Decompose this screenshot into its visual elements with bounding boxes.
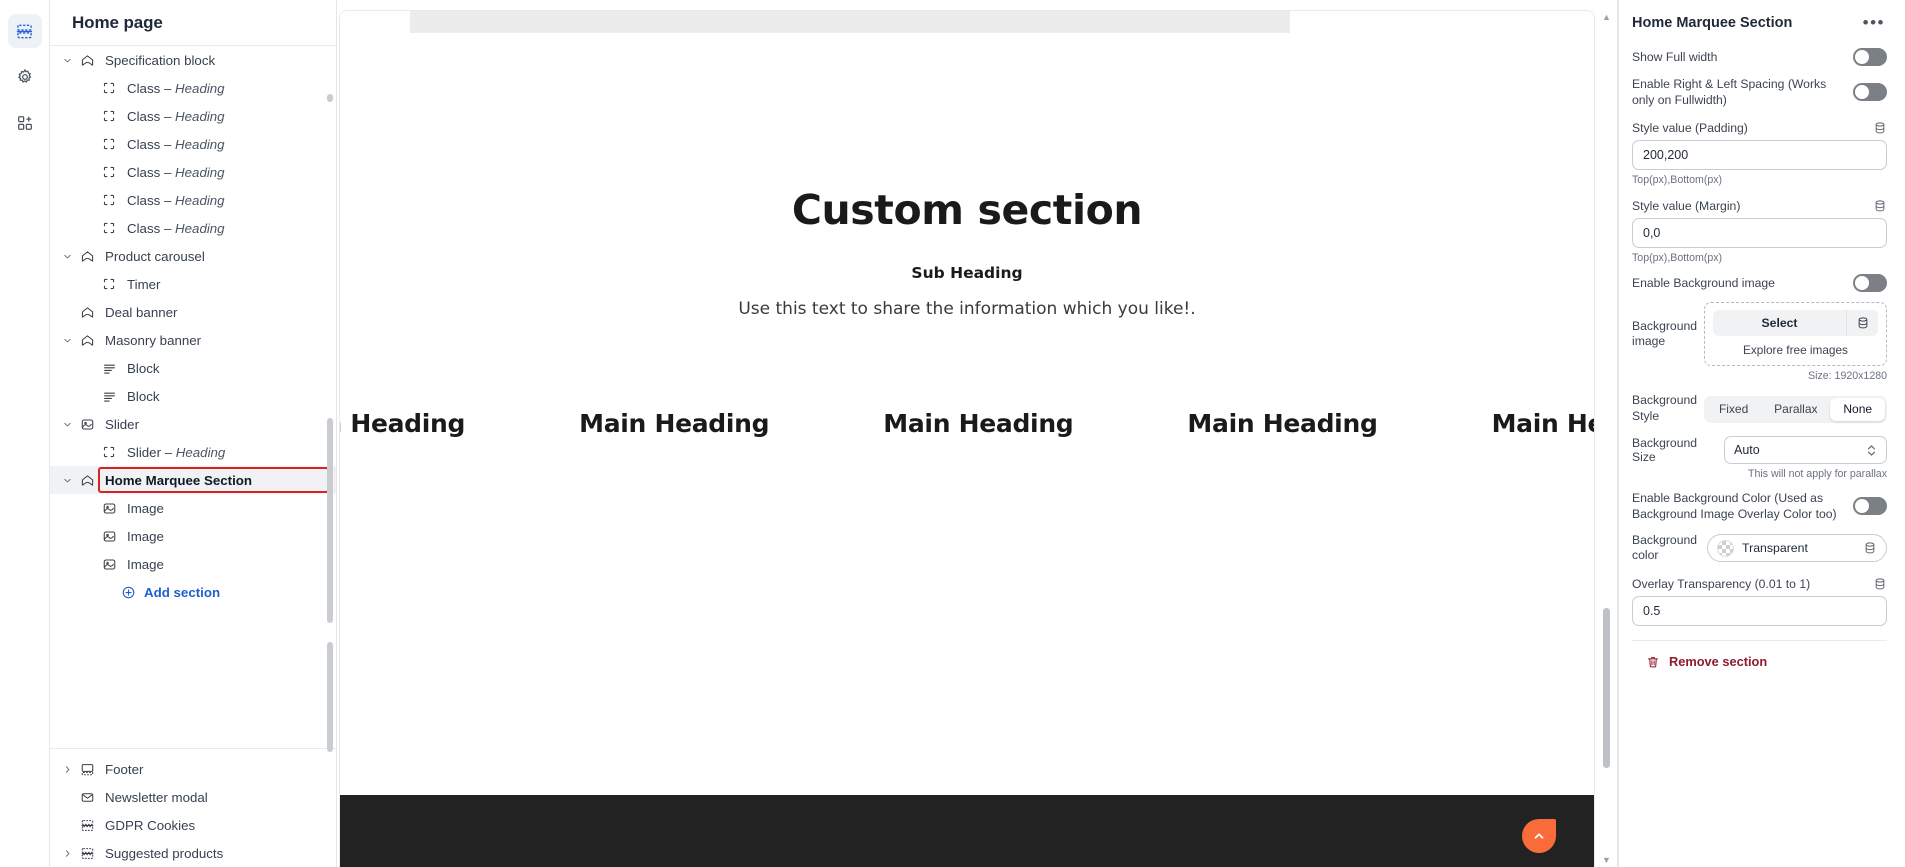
show-full-width-toggle[interactable] [1853, 48, 1887, 66]
inspector-header: Home Marquee Section ••• [1632, 0, 1887, 38]
sidebar-item[interactable]: Suggested products [50, 839, 336, 867]
block-icon [100, 79, 118, 97]
sidebar-item-label: Class – Heading [127, 221, 225, 236]
block-icon [100, 219, 118, 237]
inspector-panel: Home Marquee Section ••• Show Full width… [1618, 0, 1905, 867]
toggle-knob [1855, 276, 1869, 290]
enable-bg-color-toggle[interactable] [1853, 497, 1887, 515]
remove-section-label: Remove section [1669, 654, 1767, 669]
image-icon [100, 527, 118, 545]
chevron-down-icon[interactable] [58, 471, 76, 489]
database-icon[interactable] [1846, 310, 1878, 336]
image-icon [100, 555, 118, 573]
sidebar-item[interactable]: Class – Heading [50, 102, 336, 130]
background-style-segmented[interactable]: FixedParallaxNone [1704, 396, 1887, 423]
chevron-up-icon [1532, 829, 1546, 843]
plus-circle-icon [120, 584, 136, 600]
scrollbar-thumb[interactable] [1603, 608, 1610, 768]
sidebar-scrollbar-top[interactable] [327, 94, 333, 102]
background-size-row: Background Size Auto [1632, 436, 1887, 464]
sidebar-item[interactable]: Class – Heading [50, 74, 336, 102]
sidebar-item-label-italic: Heading [175, 193, 225, 208]
sidebar-item-label: Specification block [105, 53, 215, 68]
right-left-spacing-label: Enable Right & Left Spacing (Works only … [1632, 76, 1845, 108]
toggle-knob [1855, 50, 1869, 64]
sidebar-item[interactable]: Slider – Heading [50, 438, 336, 466]
sidebar-item-label-italic: Heading [175, 221, 225, 236]
remove-section-button[interactable]: Remove section [1632, 641, 1887, 669]
background-style-label: Background Style [1632, 393, 1694, 425]
style-margin-header: Style value (Margin) [1632, 199, 1887, 213]
scroll-to-top-button[interactable] [1522, 819, 1556, 853]
background-color-label: Background color [1632, 533, 1697, 565]
sidebar-item-label: Block [127, 389, 160, 404]
sidebar-item-label-italic: Heading [175, 81, 225, 96]
right-left-spacing-row: Enable Right & Left Spacing (Works only … [1632, 76, 1887, 108]
enable-bg-color-label: Enable Background Color (Used as Backgro… [1632, 490, 1845, 522]
chevron-updown-icon [1866, 443, 1877, 458]
text-lines-icon [100, 387, 118, 405]
marquee-item: Main Heading [579, 409, 769, 438]
style-padding-header: Style value (Padding) [1632, 121, 1887, 135]
marquee-item: Main Heading [1187, 409, 1377, 438]
overlay-transparency-header: Overlay Transparency (0.01 to 1) [1632, 577, 1887, 591]
right-left-spacing-toggle[interactable] [1853, 83, 1887, 101]
background-image-dropzone[interactable]: Select Explore free images [1704, 302, 1887, 366]
background-color-row: Background color Transparent [1632, 533, 1887, 565]
footer-icon [78, 760, 96, 778]
marquee-item: Main Heading [1492, 409, 1594, 438]
sidebar-item-label: Home Marquee Section [105, 473, 252, 488]
sidebar-item-label-italic: Heading [176, 445, 226, 460]
sidebar-scrollbar-thumb[interactable] [327, 418, 333, 623]
database-icon[interactable] [1873, 121, 1887, 135]
sidebar-item-label-italic: Heading [175, 165, 225, 180]
add-section-button[interactable]: Add section [50, 578, 336, 606]
block-icon [100, 163, 118, 181]
envelope-icon [78, 788, 96, 806]
add-section-label: Add section [144, 585, 220, 600]
sidebar-item-label: Newsletter modal [105, 790, 208, 805]
database-icon[interactable] [1873, 577, 1887, 591]
block-icon [100, 443, 118, 461]
sidebar-item[interactable]: Specification block [50, 46, 336, 74]
preview-body-text: Use this text to share the information w… [340, 299, 1594, 319]
background-style-row: Background Style FixedParallaxNone [1632, 393, 1887, 425]
chevron-down-icon[interactable] [58, 415, 76, 433]
gear-icon [16, 68, 34, 86]
sidebar-item-label: Slider – Heading [127, 445, 225, 460]
style-margin-hint: Top(px),Bottom(px) [1632, 252, 1887, 264]
background-style-option-parallax[interactable]: Parallax [1761, 398, 1830, 421]
style-padding-input[interactable] [1632, 140, 1887, 170]
explore-free-images-link[interactable]: Explore free images [1713, 343, 1878, 357]
apps-add-icon [16, 114, 34, 132]
rail-apps[interactable] [8, 106, 42, 140]
sidebar-item[interactable]: Class – Heading [50, 130, 336, 158]
preview-marquee: Main HeadingMain HeadingMain HeadingMain… [340, 393, 1594, 453]
sidebar-item[interactable]: Slider [50, 410, 336, 438]
home-icon [78, 331, 96, 349]
chevron-right-icon[interactable] [58, 760, 76, 778]
style-margin-input[interactable] [1632, 218, 1887, 248]
background-color-picker[interactable]: Transparent [1707, 534, 1887, 562]
preview-pane: Custom section Sub Heading Use this text… [337, 0, 1618, 867]
sidebar-item[interactable]: Class – Heading [50, 214, 336, 242]
preview-canvas: Custom section Sub Heading Use this text… [339, 10, 1595, 867]
sections-icon [78, 844, 96, 862]
sidebar-item[interactable]: Image [50, 494, 336, 522]
sidebar-item[interactable]: Footer [50, 755, 336, 783]
sidebar-item-label: Class – Heading [127, 165, 225, 180]
background-size-select[interactable]: Auto [1724, 436, 1887, 464]
left-icon-rail [0, 0, 50, 867]
inspector-title: Home Marquee Section [1632, 15, 1792, 31]
background-image-row: Background image Select Explore free ima… [1632, 302, 1887, 366]
style-padding-label: Style value (Padding) [1632, 121, 1748, 135]
enable-bg-image-label: Enable Background image [1632, 275, 1775, 291]
block-icon [100, 275, 118, 293]
sidebar-item-label: Class – Heading [127, 109, 225, 124]
sidebar-item-label: Timer [127, 277, 160, 292]
sidebar-scrollbar-bottom[interactable] [327, 642, 333, 752]
sections-tree-list: Specification blockClass – HeadingClass … [50, 46, 336, 741]
page-title: Home page [72, 13, 163, 33]
show-full-width-row: Show Full width [1632, 48, 1887, 66]
sidebar-item-label-italic: Heading [175, 109, 225, 124]
style-padding-hint: Top(px),Bottom(px) [1632, 174, 1887, 186]
background-color-value: Transparent [1742, 541, 1855, 555]
select-image-button[interactable]: Select [1713, 310, 1878, 336]
more-options-icon[interactable]: ••• [1861, 14, 1887, 32]
sidebar-item-label: Product carousel [105, 249, 205, 264]
color-swatch [1717, 540, 1734, 557]
image-icon [78, 415, 96, 433]
sidebar-item[interactable]: Image [50, 550, 336, 578]
enable-bg-image-row: Enable Background image [1632, 274, 1887, 292]
sidebar-item[interactable]: Block [50, 354, 336, 382]
sections-tree-footer-list: FooterNewsletter modalGDPR CookiesSugges… [50, 748, 336, 867]
sidebar-item-label: Slider [105, 417, 139, 432]
sidebar-item[interactable]: Timer [50, 270, 336, 298]
enable-bg-image-toggle[interactable] [1853, 274, 1887, 292]
home-icon [78, 471, 96, 489]
preview-hero: Custom section Sub Heading Use this text… [340, 11, 1594, 319]
sidebar-item[interactable]: Masonry banner [50, 326, 336, 354]
overlay-transparency-label: Overlay Transparency (0.01 to 1) [1632, 577, 1810, 591]
chevron-down-icon[interactable] [58, 331, 76, 349]
chevron-down-icon[interactable] [58, 51, 76, 69]
sidebar-item[interactable]: Product carousel [50, 242, 336, 270]
background-style-option-fixed[interactable]: Fixed [1706, 398, 1761, 421]
sections-icon [78, 816, 96, 834]
sidebar-item[interactable]: Block [50, 382, 336, 410]
sidebar-item-selected[interactable]: Home Marquee Section [50, 466, 336, 494]
trash-icon [1646, 655, 1660, 669]
sidebar-item[interactable]: Newsletter modal [50, 783, 336, 811]
preview-scrollbar[interactable]: ▲ ▼ [1599, 10, 1614, 867]
background-size-hint: This will not apply for parallax [1632, 468, 1887, 480]
marquee-item: Main Heading [340, 409, 465, 438]
app-root: Home page Specification blockClass – Hea… [0, 0, 1905, 867]
home-icon [78, 247, 96, 265]
marquee-item: Main Heading [883, 409, 1073, 438]
preview-dark-footer [340, 795, 1594, 867]
background-size-label: Background Size [1632, 436, 1714, 464]
inspector-divider [1618, 0, 1619, 867]
style-margin-label: Style value (Margin) [1632, 199, 1740, 213]
sidebar-item[interactable]: Class – Heading [50, 186, 336, 214]
sections-sidebar: Home page Specification blockClass – Hea… [50, 0, 337, 867]
toggle-knob [1855, 85, 1869, 99]
preview-heading: Custom section [340, 186, 1594, 234]
select-image-label: Select [1713, 310, 1846, 336]
sidebar-item[interactable]: Image [50, 522, 336, 550]
background-style-option-none[interactable]: None [1830, 398, 1885, 421]
scrollbar-up-arrow[interactable]: ▲ [1602, 10, 1611, 24]
sidebar-item-label: Block [127, 361, 160, 376]
sidebar-item-label: Class – Heading [127, 137, 225, 152]
block-icon [100, 107, 118, 125]
enable-bg-color-row: Enable Background Color (Used as Backgro… [1632, 490, 1887, 522]
chevron-down-icon[interactable] [58, 247, 76, 265]
scrollbar-track[interactable] [1599, 24, 1614, 853]
sidebar-item-label: Image [127, 557, 164, 572]
sidebar-item-label: Suggested products [105, 846, 223, 861]
sidebar-item-label: Masonry banner [105, 333, 201, 348]
rail-sections[interactable] [8, 14, 42, 48]
sidebar-item-label-italic: Heading [175, 137, 225, 152]
text-lines-icon [100, 359, 118, 377]
background-size-value: Auto [1734, 443, 1760, 457]
image-icon [100, 499, 118, 517]
sidebar-item[interactable]: Class – Heading [50, 158, 336, 186]
sidebar-item-label: GDPR Cookies [105, 818, 195, 833]
sidebar-item-label: Class – Heading [127, 81, 225, 96]
sections-tree: Specification blockClass – HeadingClass … [50, 46, 336, 867]
block-icon [100, 191, 118, 209]
toggle-knob [1855, 499, 1869, 513]
sidebar-item-label: Footer [105, 762, 143, 777]
sidebar-item-label: Class – Heading [127, 193, 225, 208]
home-icon [78, 51, 96, 69]
show-full-width-label: Show Full width [1632, 49, 1717, 65]
rail-settings[interactable] [8, 60, 42, 94]
block-icon [100, 135, 118, 153]
background-image-size-hint: Size: 1920x1280 [1632, 370, 1887, 382]
scrollbar-down-arrow[interactable]: ▼ [1602, 853, 1611, 867]
chevron-right-icon[interactable] [58, 844, 76, 862]
preview-subheading: Sub Heading [340, 264, 1594, 282]
background-image-label: Background image [1632, 319, 1694, 351]
database-icon[interactable] [1873, 199, 1887, 213]
sidebar-item[interactable]: Deal banner [50, 298, 336, 326]
sidebar-item-label: Image [127, 501, 164, 516]
sidebar-item[interactable]: GDPR Cookies [50, 811, 336, 839]
home-icon [78, 303, 96, 321]
overlay-transparency-input[interactable] [1632, 596, 1887, 626]
sidebar-header: Home page [50, 0, 336, 46]
sidebar-item-label: Image [127, 529, 164, 544]
sections-icon [15, 22, 34, 41]
database-icon[interactable] [1863, 541, 1877, 555]
sidebar-item-label: Deal banner [105, 305, 177, 320]
